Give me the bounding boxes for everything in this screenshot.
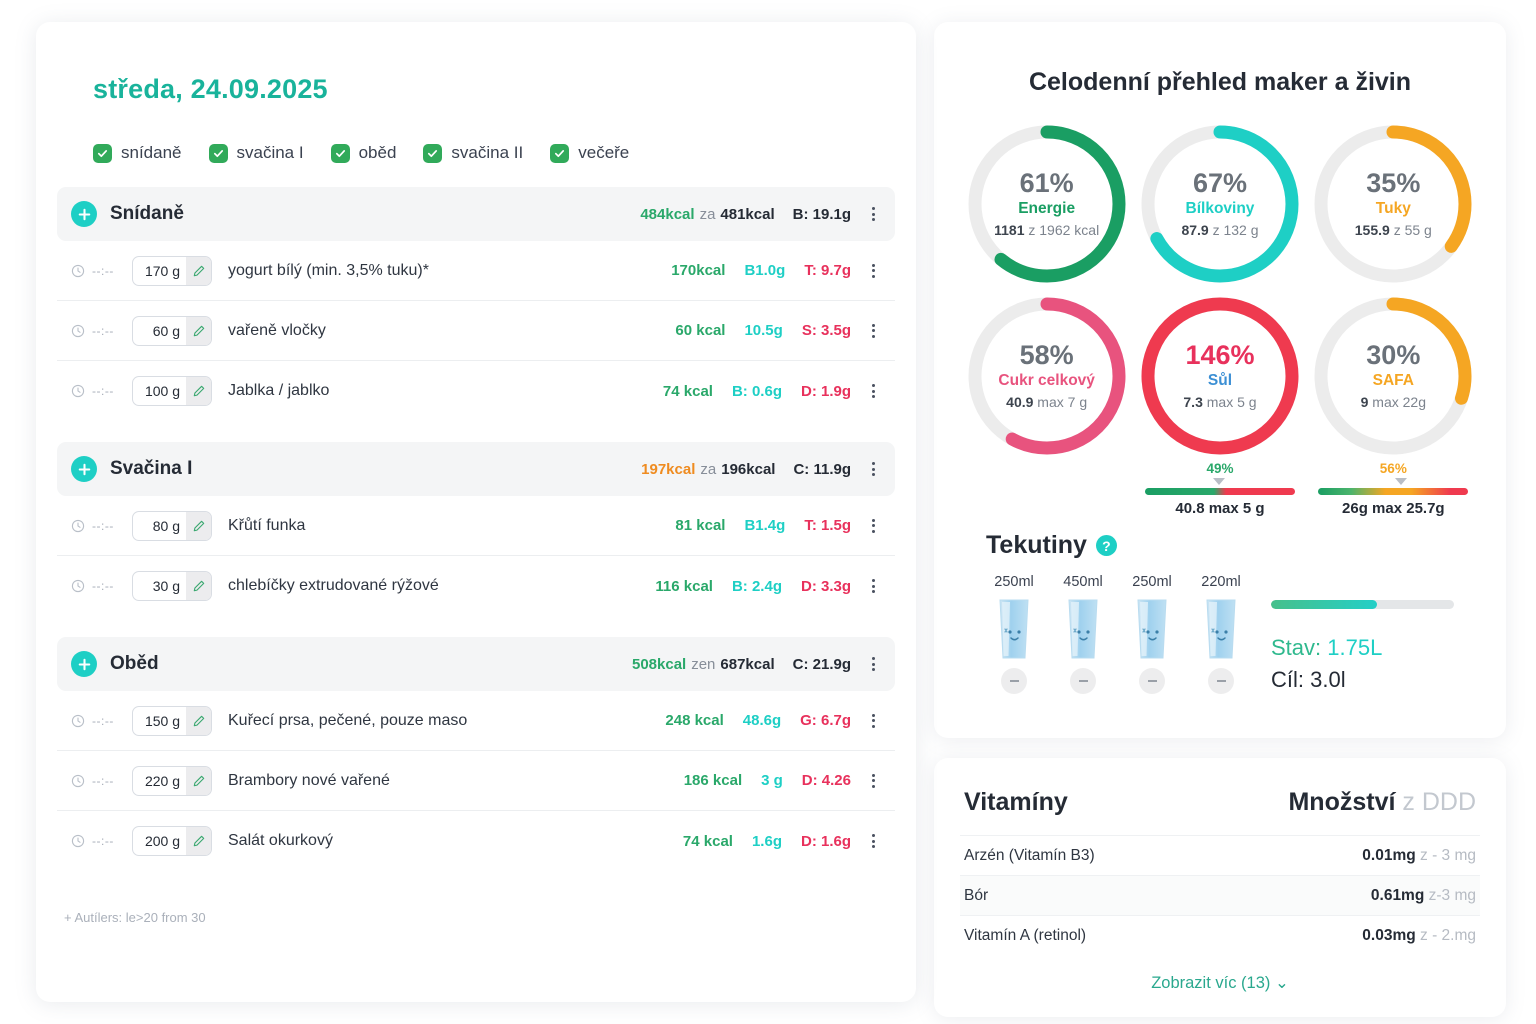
water-goal: Cíl: 3.0l bbox=[1271, 667, 1454, 693]
food-nutrient-2: T: 9.7g bbox=[804, 262, 851, 279]
meal-connector: za bbox=[700, 461, 716, 478]
food-kcal: 74 kcal bbox=[683, 833, 733, 850]
water-glass-icon[interactable] bbox=[1200, 596, 1242, 662]
ring-percent: 30% bbox=[1366, 341, 1420, 369]
water-goal-value: 3.0l bbox=[1310, 667, 1345, 692]
diary-card: středa, 24.09.2025 snídaně svačina I obě… bbox=[36, 22, 916, 1002]
meal-filter-4[interactable]: večeře bbox=[550, 143, 629, 163]
clock-icon[interactable] bbox=[71, 834, 85, 848]
add-food-button[interactable] bbox=[71, 651, 97, 677]
food-nutrient-1: B: 0.6g bbox=[732, 383, 782, 400]
food-nutrient-1: 10.5g bbox=[744, 322, 782, 339]
ring-center-text: 30% SAFA 9 max 22g bbox=[1308, 291, 1478, 461]
fluids-section: Tekutiny ? 250ml 450ml 250ml bbox=[960, 517, 1480, 716]
remove-glass-button[interactable] bbox=[1070, 668, 1096, 694]
macro-gauges-row: 49% 40.8 max 5 g 56% 26g max 25.7g bbox=[960, 465, 1480, 517]
vitamins-header: Vitamíny Množství z DDD bbox=[960, 788, 1480, 835]
food-kcal: 60 kcal bbox=[675, 322, 725, 339]
summary-column: Celodenní přehled maker a živin 61% Ener… bbox=[934, 22, 1506, 1002]
row-menu-icon[interactable] bbox=[865, 462, 881, 476]
food-stats: 248 kcal 48.6g G: 6.7g bbox=[665, 712, 881, 729]
food-time[interactable]: --:-- bbox=[92, 519, 126, 533]
meal-header: Oběd 508kcal zen 687kcal C: 21.9g bbox=[57, 637, 895, 691]
water-current-label: Stav: bbox=[1271, 635, 1321, 660]
meal-filter-0[interactable]: snídaně bbox=[93, 143, 182, 163]
vitamins-card: Vitamíny Množství z DDD Arzén (Vitamín B… bbox=[934, 758, 1506, 1017]
row-menu-icon[interactable] bbox=[865, 579, 881, 593]
amount-value: 60 g bbox=[133, 317, 186, 345]
macro-ring-safa: 30% SAFA 9 max 22g bbox=[1307, 291, 1480, 461]
help-icon[interactable]: ? bbox=[1096, 535, 1117, 556]
meal-macro: C: 11.9g bbox=[793, 461, 851, 478]
ring-percent: 67% bbox=[1193, 169, 1247, 197]
macro-ring-bílkoviny: 67% Bílkoviny 87.9 z 132 g bbox=[1133, 119, 1306, 289]
water-progress-fill bbox=[1271, 600, 1377, 609]
gauge-caption: 26g max 25.7g bbox=[1318, 500, 1468, 517]
food-name: Brambory nové vařené bbox=[228, 772, 390, 790]
meal-summary: 484kcal za 481kcal B: 19.1g bbox=[640, 206, 881, 223]
clock-icon[interactable] bbox=[71, 384, 85, 398]
food-nutrient-1: 3 g bbox=[761, 772, 783, 789]
amount-value: 170 g bbox=[133, 257, 186, 285]
ring-label: Tuky bbox=[1376, 197, 1411, 220]
edit-pencil-icon[interactable] bbox=[186, 317, 211, 345]
meal-summary: 197kcal za 196kcal C: 11.9g bbox=[641, 461, 881, 478]
remove-glass-button[interactable] bbox=[1001, 668, 1027, 694]
fluids-title-text: Tekutiny bbox=[986, 531, 1087, 560]
food-nutrient-2: D: 1.9g bbox=[801, 383, 851, 400]
add-food-button[interactable] bbox=[71, 456, 97, 482]
meal-kcal-target: 687kcal bbox=[720, 656, 774, 673]
row-menu-icon[interactable] bbox=[865, 714, 881, 728]
edit-pencil-icon[interactable] bbox=[186, 827, 211, 855]
food-kcal: 186 kcal bbox=[684, 772, 742, 789]
meal-connector: zen bbox=[691, 656, 715, 673]
food-name: Křůtí funka bbox=[228, 517, 305, 535]
meal-title: Snídaně bbox=[110, 203, 184, 225]
water-glass-icon[interactable] bbox=[1062, 596, 1104, 662]
show-more-vitamins-link[interactable]: Zobrazit víc (13) ⌄ bbox=[960, 955, 1480, 999]
food-nutrient-2: G: 6.7g bbox=[800, 712, 851, 729]
meal-kcal: 484kcal bbox=[640, 206, 694, 223]
water-progress-track bbox=[1271, 600, 1454, 609]
macro-ring-tuky: 35% Tuky 155.9 z 55 g bbox=[1307, 119, 1480, 289]
edit-pencil-icon[interactable] bbox=[186, 707, 211, 735]
meal-title: Svačina I bbox=[110, 458, 192, 480]
edit-pencil-icon[interactable] bbox=[186, 512, 211, 540]
ring-wrap: 61% Energie 1181 z 1962 kcal bbox=[962, 119, 1132, 289]
gauge-marker-icon bbox=[1395, 478, 1407, 485]
macro-ring-energie: 61% Energie 1181 z 1962 kcal bbox=[960, 119, 1133, 289]
amount-input[interactable]: 200 g bbox=[132, 826, 212, 856]
add-food-button[interactable] bbox=[71, 201, 97, 227]
food-row: --:-- 220 g Brambory nové vařené 186 kca… bbox=[57, 751, 895, 811]
meal-block: Oběd 508kcal zen 687kcal C: 21.9g --:-- … bbox=[57, 637, 895, 871]
amount-input[interactable]: 80 g bbox=[132, 511, 212, 541]
vitamin-amount: 0.01mg bbox=[1362, 847, 1415, 864]
food-stats: 116 kcal B: 2.4g D: 3.3g bbox=[655, 578, 881, 595]
ring-label: Sůl bbox=[1208, 369, 1232, 392]
clock-icon[interactable] bbox=[71, 774, 85, 788]
food-nutrient-2: T: 1.5g bbox=[804, 517, 851, 534]
vitamin-ddd: z - 3 mg bbox=[1420, 847, 1476, 864]
vitamin-name: Bór bbox=[964, 887, 988, 905]
ring-percent: 58% bbox=[1020, 341, 1074, 369]
glass-item-0: 250ml bbox=[986, 574, 1042, 694]
vitamin-name: Vitamín A (retinol) bbox=[964, 927, 1086, 945]
vitamins-table-body: Arzén (Vitamín B3) 0.01mg z - 3 mg Bór 0… bbox=[960, 835, 1480, 955]
ring-label: Bílkoviny bbox=[1186, 197, 1255, 220]
meal-kcal-target: 196kcal bbox=[721, 461, 775, 478]
meal-filter-1[interactable]: svačina I bbox=[209, 143, 304, 163]
meal-kcal: 197kcal bbox=[641, 461, 695, 478]
water-goal-label: Cíl: bbox=[1271, 667, 1304, 692]
macro-overview-title: Celodenní přehled maker a živin bbox=[960, 68, 1480, 97]
gauge-spacer bbox=[960, 465, 1133, 517]
ring-center-text: 58% Cukr celkový 40.9 max 7 g bbox=[962, 291, 1132, 461]
clock-icon[interactable] bbox=[71, 579, 85, 593]
glass-item-3: 220ml bbox=[1193, 574, 1249, 694]
gauge-marker-icon bbox=[1213, 478, 1225, 485]
vitamins-ddd-header: z DDD bbox=[1402, 788, 1476, 816]
ring-center-text: 35% Tuky 155.9 z 55 g bbox=[1308, 119, 1478, 289]
checkbox-checked-icon[interactable] bbox=[423, 144, 442, 163]
meal-connector: za bbox=[700, 206, 716, 223]
row-menu-icon[interactable] bbox=[865, 834, 881, 848]
checkbox-checked-icon[interactable] bbox=[93, 144, 112, 163]
meal-summary: 508kcal zen 687kcal C: 21.9g bbox=[632, 656, 881, 673]
vitamin-row: Vitamín A (retinol) 0.03mg z - 2.mg bbox=[960, 915, 1480, 955]
ring-percent: 146% bbox=[1185, 341, 1254, 369]
meal-filter-3[interactable]: svačina II bbox=[423, 143, 523, 163]
edit-pencil-icon[interactable] bbox=[186, 377, 211, 405]
food-name: Salát okurkový bbox=[228, 832, 333, 850]
water-current-value: 1.75L bbox=[1327, 635, 1382, 660]
remove-glass-button[interactable] bbox=[1208, 668, 1234, 694]
edit-pencil-icon[interactable] bbox=[186, 257, 211, 285]
ring-center-text: 61% Energie 1181 z 1962 kcal bbox=[962, 119, 1132, 289]
page-title: středa, 24.09.2025 bbox=[36, 74, 916, 105]
vitamin-ddd: z-3 mg bbox=[1429, 887, 1476, 904]
meal-block: Snídaně 484kcal za 481kcal B: 19.1g --:-… bbox=[57, 187, 895, 421]
glass-item-1: 450ml bbox=[1055, 574, 1111, 694]
food-row: --:-- 80 g Křůtí funka 81 kcal B1.4g T: … bbox=[57, 496, 895, 556]
food-nutrient-2: S: 3.5g bbox=[802, 322, 851, 339]
food-time[interactable]: --:-- bbox=[92, 264, 126, 278]
amount-input[interactable]: 150 g bbox=[132, 706, 212, 736]
vitamin-name: Arzén (Vitamín B3) bbox=[964, 847, 1095, 865]
clock-icon[interactable] bbox=[71, 519, 85, 533]
glass-volume: 250ml bbox=[1132, 574, 1172, 590]
clock-icon[interactable] bbox=[71, 324, 85, 338]
ring-values: 40.9 max 7 g bbox=[1006, 394, 1087, 412]
food-nutrient-2: D: 4.26 bbox=[802, 772, 851, 789]
diary-footer-note: + Autílers: le>20 from 30 bbox=[36, 892, 916, 925]
vitamin-amount: 0.03mg bbox=[1362, 927, 1415, 944]
glass-item-2: 250ml bbox=[1124, 574, 1180, 694]
show-more-label: Zobrazit víc (13) bbox=[1151, 974, 1270, 992]
ring-wrap: 35% Tuky 155.9 z 55 g bbox=[1308, 119, 1478, 289]
ring-label: Cukr celkový bbox=[998, 369, 1095, 392]
meal-header: Svačina I 197kcal za 196kcal C: 11.9g bbox=[57, 442, 895, 496]
vitamin-amount-cell: 0.03mg z - 2.mg bbox=[1362, 927, 1476, 945]
meal-title: Oběd bbox=[110, 653, 159, 675]
row-menu-icon[interactable] bbox=[865, 519, 881, 533]
water-glass-icon[interactable] bbox=[993, 596, 1035, 662]
meal-filter-2[interactable]: oběd bbox=[331, 143, 397, 163]
meal-macro: C: 21.9g bbox=[793, 656, 851, 673]
amount-input[interactable]: 60 g bbox=[132, 316, 212, 346]
water-current: Stav: 1.75L bbox=[1271, 635, 1454, 661]
amount-value: 220 g bbox=[133, 767, 186, 795]
vitamins-header-left: Vitamíny bbox=[964, 788, 1068, 817]
amount-value: 100 g bbox=[133, 377, 186, 405]
food-row: --:-- 100 g Jablka / jablko 74 kcal B: 0… bbox=[57, 361, 895, 421]
meal-filter-label: svačina II bbox=[451, 143, 523, 163]
gauge-sůl: 49% 40.8 max 5 g bbox=[1145, 461, 1295, 517]
macro-overview-card: Celodenní přehled maker a živin 61% Ener… bbox=[934, 22, 1506, 738]
food-row: --:-- 200 g Salát okurkový 74 kcal 1.6g … bbox=[57, 811, 895, 871]
app-root: středa, 24.09.2025 snídaně svačina I obě… bbox=[0, 0, 1536, 1024]
amount-input[interactable]: 30 g bbox=[132, 571, 212, 601]
row-menu-icon[interactable] bbox=[865, 774, 881, 788]
meal-kcal: 508kcal bbox=[632, 656, 686, 673]
ring-center-text: 67% Bílkoviny 87.9 z 132 g bbox=[1135, 119, 1305, 289]
food-name: vařeně vločky bbox=[228, 322, 326, 340]
food-nutrient-2: D: 1.6g bbox=[801, 833, 851, 850]
macro-ring-sůl: 146% Sůl 7.3 max 5 g bbox=[1133, 291, 1306, 461]
food-nutrient-1: 1.6g bbox=[752, 833, 782, 850]
row-menu-icon[interactable] bbox=[865, 657, 881, 671]
vitamins-header-right: Množství z DDD bbox=[1288, 788, 1476, 817]
ring-wrap: 30% SAFA 9 max 22g bbox=[1308, 291, 1478, 461]
food-time[interactable]: --:-- bbox=[92, 774, 126, 788]
ring-label: SAFA bbox=[1373, 369, 1414, 392]
meal-filter-group: snídaně svačina I oběd svačina II večeře bbox=[36, 143, 916, 163]
food-row: --:-- 170 g yogurt bílý (min. 3,5% tuku)… bbox=[57, 241, 895, 301]
vitamins-amount-header: Množství bbox=[1288, 788, 1395, 816]
edit-pencil-icon[interactable] bbox=[186, 572, 211, 600]
food-stats: 81 kcal B1.4g T: 1.5g bbox=[675, 517, 881, 534]
gauge-caption: 40.8 max 5 g bbox=[1145, 500, 1295, 517]
vitamin-row: Arzén (Vitamín B3) 0.01mg z - 3 mg bbox=[960, 835, 1480, 875]
gauge-bar bbox=[1145, 488, 1295, 495]
meal-filter-label: oběd bbox=[359, 143, 397, 163]
amount-value: 30 g bbox=[133, 572, 186, 600]
meal-filter-label: svačina I bbox=[237, 143, 304, 163]
ring-percent: 61% bbox=[1020, 169, 1074, 197]
food-kcal: 116 kcal bbox=[655, 578, 713, 595]
glass-list: 250ml 450ml 250ml 220ml bbox=[986, 574, 1249, 694]
gauge-percent: 49% bbox=[1145, 461, 1295, 476]
clock-icon[interactable] bbox=[71, 264, 85, 278]
amount-value: 80 g bbox=[133, 512, 186, 540]
food-name: yogurt bílý (min. 3,5% tuku)* bbox=[228, 262, 429, 280]
amount-input[interactable]: 170 g bbox=[132, 256, 212, 286]
food-stats: 60 kcal 10.5g S: 3.5g bbox=[675, 322, 881, 339]
food-name: Kuřecí prsa, pečené, pouze maso bbox=[228, 712, 467, 730]
gauge-bar bbox=[1318, 488, 1468, 495]
meal-block: Svačina I 197kcal za 196kcal C: 11.9g --… bbox=[57, 442, 895, 616]
macro-rings-grid: 61% Energie 1181 z 1962 kcal 67% Bílkovi… bbox=[960, 119, 1480, 461]
meal-filter-label: večeře bbox=[578, 143, 629, 163]
ring-wrap: 58% Cukr celkový 40.9 max 7 g bbox=[962, 291, 1132, 461]
ring-values: 155.9 z 55 g bbox=[1355, 222, 1432, 240]
food-time[interactable]: --:-- bbox=[92, 834, 126, 848]
food-stats: 186 kcal 3 g D: 4.26 bbox=[684, 772, 881, 789]
vitamin-row: Bór 0.61mg z-3 mg bbox=[960, 875, 1480, 915]
vitamin-amount: 0.61mg bbox=[1371, 887, 1424, 904]
row-menu-icon[interactable] bbox=[865, 324, 881, 338]
food-time[interactable]: --:-- bbox=[92, 324, 126, 338]
edit-pencil-icon[interactable] bbox=[186, 767, 211, 795]
amount-value: 150 g bbox=[133, 707, 186, 735]
food-row: --:-- 30 g chlebíčky extrudované rýžové … bbox=[57, 556, 895, 616]
vitamin-ddd: z - 2.mg bbox=[1420, 927, 1476, 944]
food-nutrient-1: B1.0g bbox=[744, 262, 785, 279]
food-kcal: 170kcal bbox=[671, 262, 725, 279]
food-stats: 74 kcal 1.6g D: 1.6g bbox=[683, 833, 881, 850]
checkbox-checked-icon[interactable] bbox=[550, 144, 569, 163]
ring-label: Energie bbox=[1018, 197, 1075, 220]
amount-input[interactable]: 220 g bbox=[132, 766, 212, 796]
ring-percent: 35% bbox=[1366, 169, 1420, 197]
glass-volume: 250ml bbox=[994, 574, 1034, 590]
checkbox-checked-icon[interactable] bbox=[331, 144, 350, 163]
ring-center-text: 146% Sůl 7.3 max 5 g bbox=[1135, 291, 1305, 461]
fluids-progress-area: Stav: 1.75L Cíl: 3.0l bbox=[1271, 574, 1454, 693]
food-row: --:-- 150 g Kuřecí prsa, pečené, pouze m… bbox=[57, 691, 895, 751]
food-stats: 74 kcal B: 0.6g D: 1.9g bbox=[663, 383, 881, 400]
meal-kcal-target: 481kcal bbox=[720, 206, 774, 223]
clock-icon[interactable] bbox=[71, 714, 85, 728]
glass-volume: 220ml bbox=[1201, 574, 1241, 590]
amount-input[interactable]: 100 g bbox=[132, 376, 212, 406]
vitamin-amount-cell: 0.61mg z-3 mg bbox=[1371, 887, 1476, 905]
ring-wrap: 146% Sůl 7.3 max 5 g bbox=[1135, 291, 1305, 461]
gauge-percent: 56% bbox=[1318, 461, 1468, 476]
ring-values: 9 max 22g bbox=[1361, 394, 1426, 412]
food-kcal: 248 kcal bbox=[665, 712, 723, 729]
food-name: Jablka / jablko bbox=[228, 382, 329, 400]
food-nutrient-1: B: 2.4g bbox=[732, 578, 782, 595]
food-time[interactable]: --:-- bbox=[92, 384, 126, 398]
meal-header: Snídaně 484kcal za 481kcal B: 19.1g bbox=[57, 187, 895, 241]
remove-glass-button[interactable] bbox=[1139, 668, 1165, 694]
food-row: --:-- 60 g vařeně vločky 60 kcal 10.5g S… bbox=[57, 301, 895, 361]
fluids-title: Tekutiny ? bbox=[986, 531, 1454, 560]
macro-ring-cukr-celkový: 58% Cukr celkový 40.9 max 7 g bbox=[960, 291, 1133, 461]
food-kcal: 74 kcal bbox=[663, 383, 713, 400]
row-menu-icon[interactable] bbox=[865, 264, 881, 278]
food-nutrient-2: D: 3.3g bbox=[801, 578, 851, 595]
meal-macro: B: 19.1g bbox=[793, 206, 851, 223]
gauge-safa: 56% 26g max 25.7g bbox=[1318, 461, 1468, 517]
fluids-body: 250ml 450ml 250ml 220ml bbox=[986, 574, 1454, 694]
food-kcal: 81 kcal bbox=[675, 517, 725, 534]
amount-value: 200 g bbox=[133, 827, 186, 855]
ring-values: 87.9 z 132 g bbox=[1181, 222, 1258, 240]
food-stats: 170kcal B1.0g T: 9.7g bbox=[671, 262, 881, 279]
food-name: chlebíčky extrudované rýžové bbox=[228, 577, 439, 595]
water-glass-icon[interactable] bbox=[1131, 596, 1173, 662]
meal-list: Snídaně 484kcal za 481kcal B: 19.1g --:-… bbox=[36, 187, 916, 871]
row-menu-icon[interactable] bbox=[865, 384, 881, 398]
glass-volume: 450ml bbox=[1063, 574, 1103, 590]
food-time[interactable]: --:-- bbox=[92, 714, 126, 728]
ring-values: 7.3 max 5 g bbox=[1183, 394, 1256, 412]
chevron-down-icon: ⌄ bbox=[1275, 974, 1289, 992]
vitamin-amount-cell: 0.01mg z - 3 mg bbox=[1362, 847, 1476, 865]
row-menu-icon[interactable] bbox=[865, 207, 881, 221]
meal-filter-label: snídaně bbox=[121, 143, 182, 163]
food-nutrient-1: B1.4g bbox=[744, 517, 785, 534]
ring-values: 1181 z 1962 kcal bbox=[994, 222, 1099, 240]
ring-wrap: 67% Bílkoviny 87.9 z 132 g bbox=[1135, 119, 1305, 289]
checkbox-checked-icon[interactable] bbox=[209, 144, 228, 163]
food-time[interactable]: --:-- bbox=[92, 579, 126, 593]
food-nutrient-1: 48.6g bbox=[743, 712, 781, 729]
